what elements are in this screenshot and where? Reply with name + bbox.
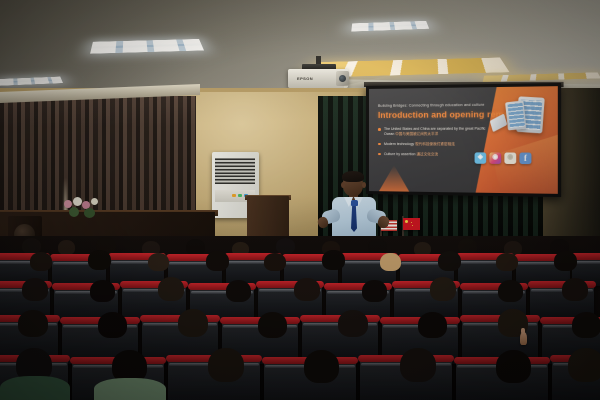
audience-head: [568, 348, 600, 382]
audience-head: [186, 239, 205, 255]
audience-head: [380, 253, 401, 271]
ac-grille: [215, 158, 255, 184]
projector-brand-label: EPSON: [297, 76, 313, 81]
audience-head: [30, 252, 52, 271]
audience-head: [304, 350, 339, 383]
audience-head: [226, 280, 251, 302]
audience-shoulders: [0, 376, 70, 400]
audience-shoulders: [94, 378, 166, 400]
ac-led-amber: [232, 194, 236, 197]
tablet-small-graphic: [505, 100, 526, 130]
presenter-ear-left: [341, 182, 345, 188]
slide-bullet-cn: 通过文化交流: [416, 152, 438, 156]
audience-head: [206, 251, 229, 271]
audience-head: [158, 277, 184, 301]
ac-led-green: [238, 194, 242, 197]
slide-bullet: Modern technology 现代科技使我们紧密相连: [378, 142, 494, 147]
audience-head: [572, 312, 600, 338]
presenter-hand-right: [376, 215, 390, 230]
presenter-necktie-knot: [351, 200, 358, 206]
presentation-slide: Building Bridges: Connecting through edu…: [369, 86, 558, 194]
audience-head: [294, 278, 320, 301]
audience-head: [276, 238, 295, 254]
audience-head: [554, 251, 577, 271]
audience-head: [418, 312, 447, 338]
slide-bullet-cn: 现代科技使我们紧密相连: [415, 142, 455, 146]
twitter-icon: ◈: [475, 152, 487, 163]
presenter-ear-right: [362, 182, 366, 188]
snapchat-icon: ◉: [504, 152, 516, 164]
audience-head: [90, 280, 115, 302]
slide-bullet-en: Culture by assertion: [384, 152, 416, 156]
audience-head: [400, 348, 436, 382]
audience-head: [208, 348, 244, 382]
audience-head: [496, 253, 518, 271]
audience-head: [18, 310, 48, 337]
instagram-icon: ◉: [489, 152, 501, 163]
audience-head: [496, 350, 531, 383]
slide-eyebrow: Building Bridges: Connecting through edu…: [378, 103, 485, 108]
audience-head: [438, 251, 461, 271]
audience-head: [362, 280, 387, 302]
audience-head: [22, 278, 48, 301]
audience-area: [0, 236, 600, 400]
audience-head: [562, 278, 588, 301]
projection-screen: Building Bridges: Connecting through edu…: [366, 83, 561, 197]
audience-head: [98, 312, 127, 338]
audience-head: [322, 250, 345, 270]
slide-bullet: The United States and China are separate…: [378, 127, 494, 137]
audience-raised-hand: [520, 332, 527, 345]
flag-china: [403, 218, 420, 230]
audience-head: [458, 238, 477, 254]
flower-arrangement: [60, 196, 110, 220]
audience-head: [498, 280, 523, 302]
audience-head: [178, 309, 208, 337]
projector-lens: [336, 71, 349, 86]
audience-head: [264, 253, 286, 271]
facebook-icon: f: [519, 153, 531, 165]
slide-bullet-cn: 中国与美国被辽阔的太平洋: [395, 131, 438, 135]
audience-head: [338, 310, 368, 337]
audience-head: [430, 277, 456, 301]
auditorium-photo: EPSON Building Bridges: Connecting throu…: [0, 0, 600, 400]
presenter-hair: [342, 171, 364, 182]
slide-bullet-en: Modern technology: [384, 142, 414, 146]
audience-head: [58, 240, 75, 255]
audience-head: [88, 250, 111, 270]
audience-head: [148, 253, 169, 271]
audience-head: [258, 312, 287, 338]
